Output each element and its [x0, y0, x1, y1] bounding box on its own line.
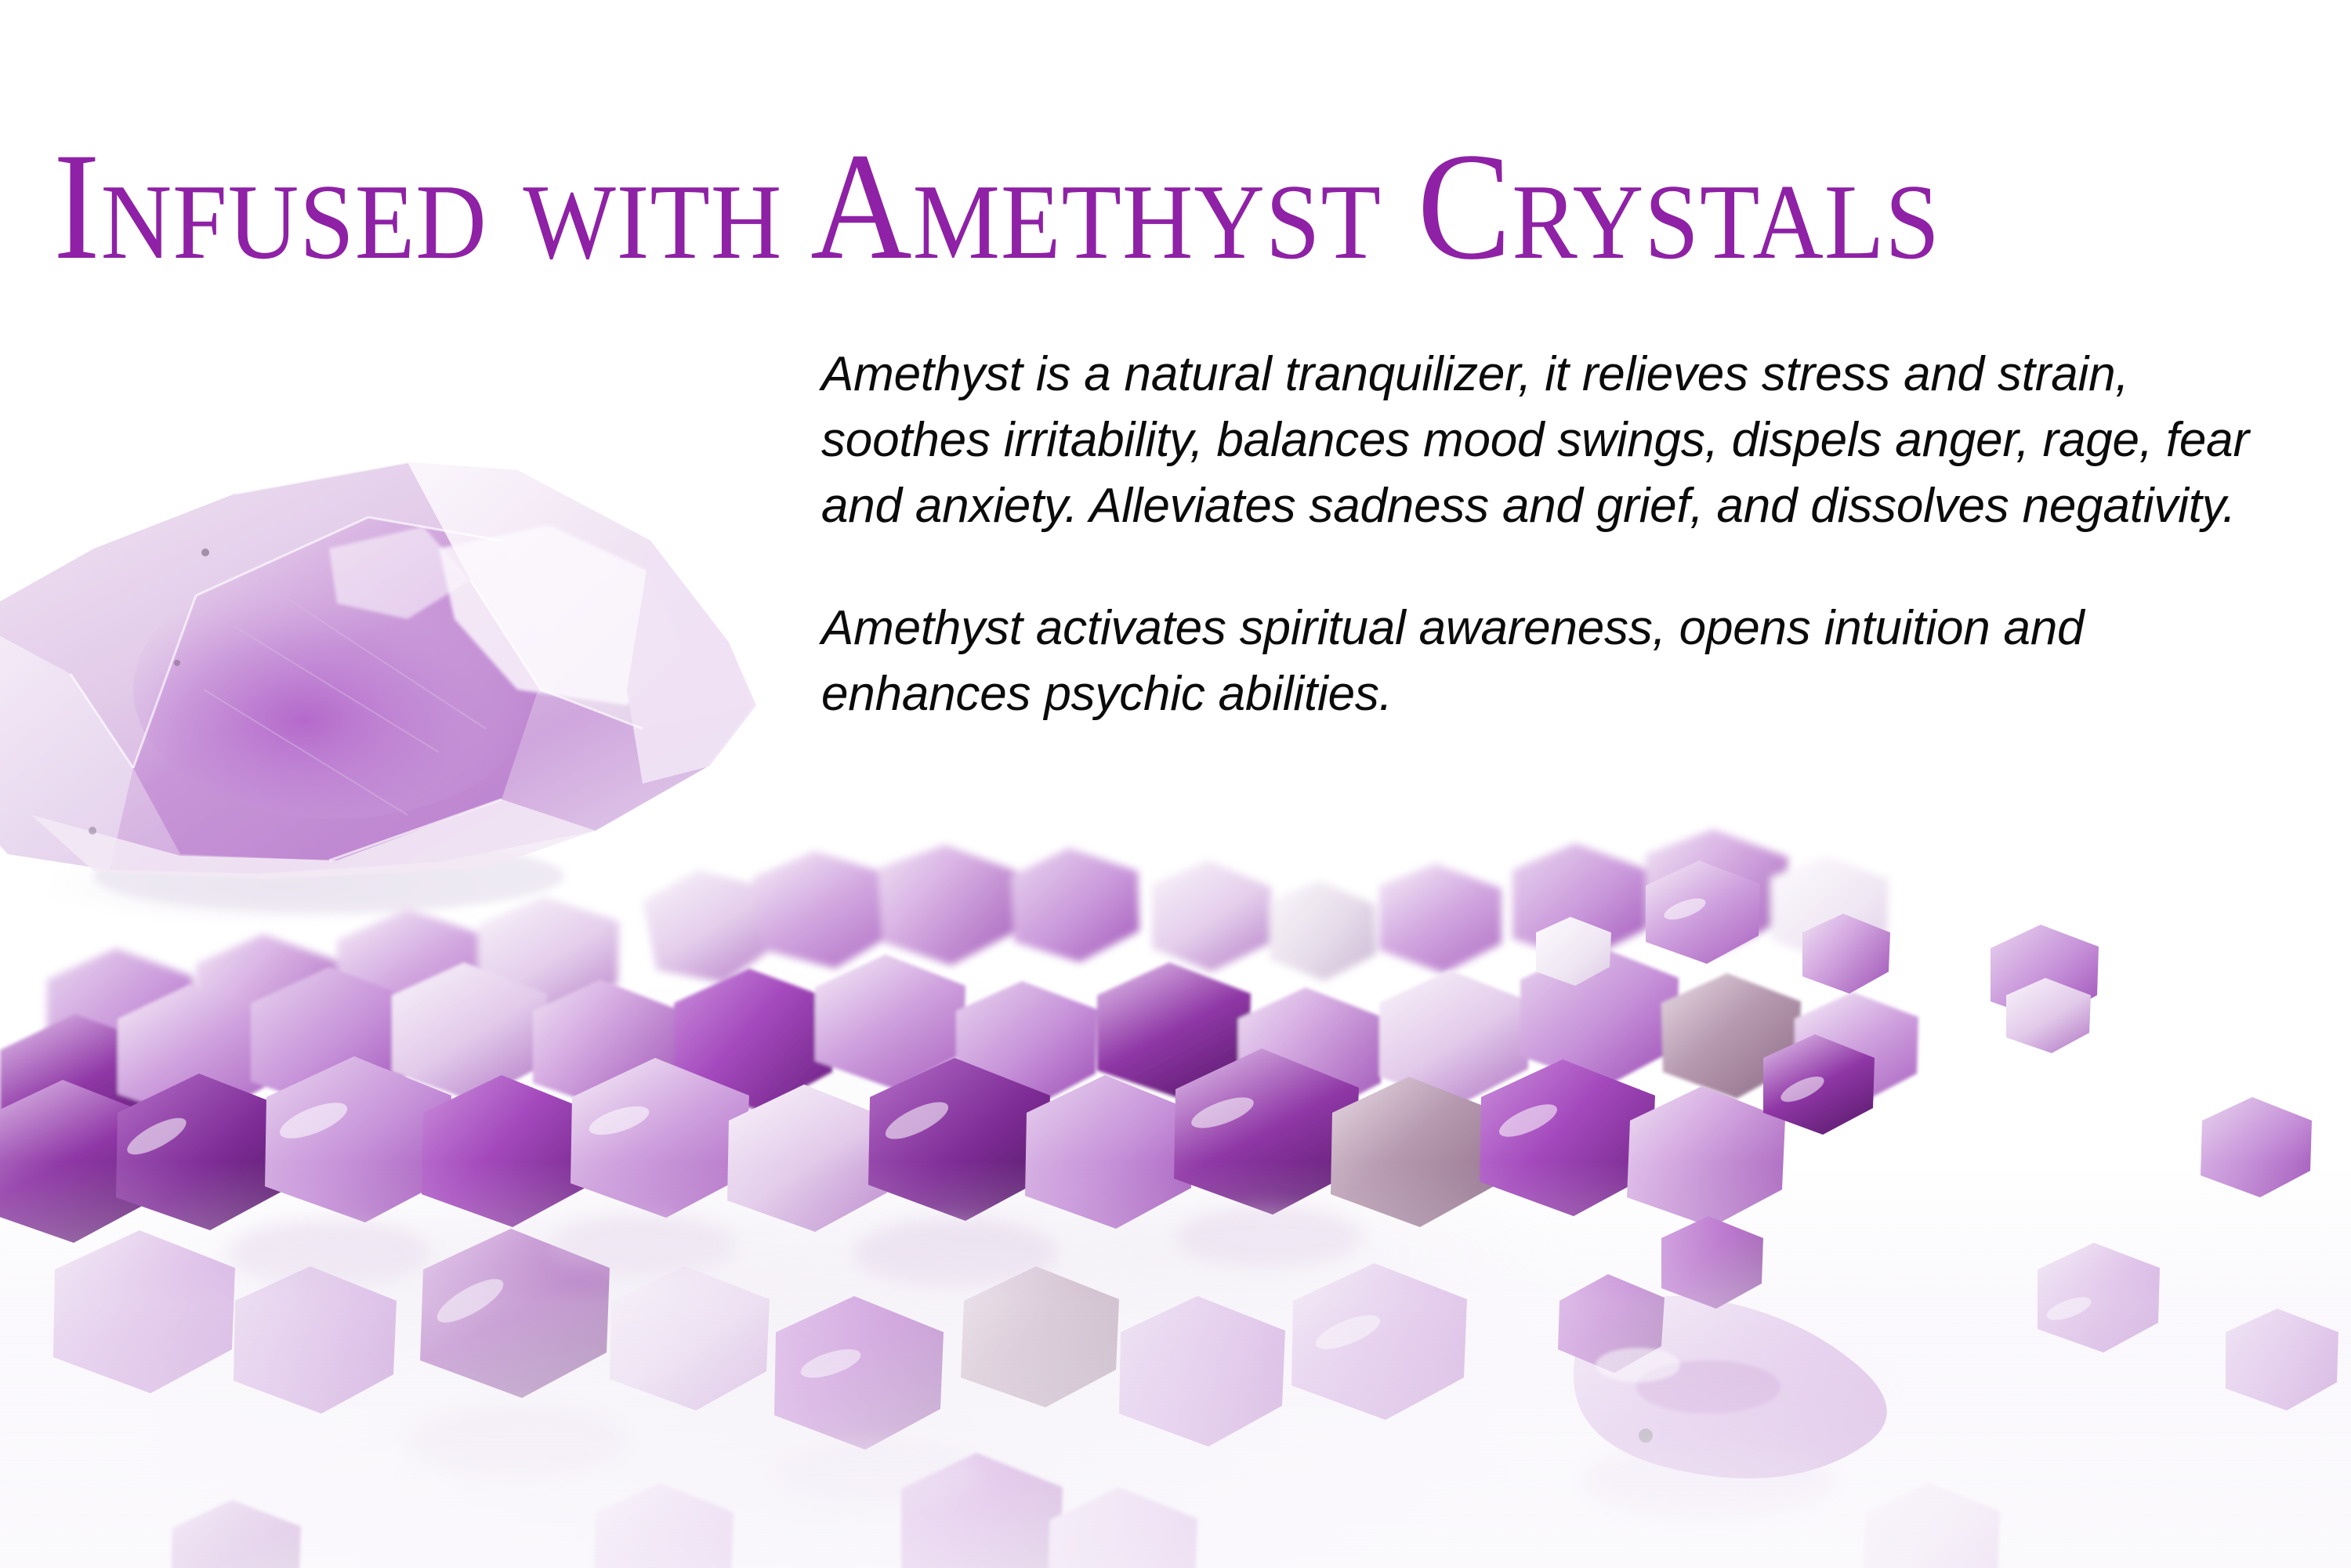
tumbled-stones-mid — [0, 945, 1918, 1157]
stone — [1991, 925, 2099, 1022]
stone — [171, 1500, 301, 1568]
page-title: Infused with Amethyst Crystals — [53, 139, 2032, 274]
large-crystal-point — [0, 462, 756, 912]
stone — [53, 1230, 235, 1393]
stone — [1536, 917, 1611, 986]
stone — [956, 981, 1097, 1108]
stone — [815, 954, 965, 1089]
stone — [1795, 992, 1918, 1103]
stone — [1646, 860, 1760, 964]
crystal-internal-lines — [204, 580, 486, 815]
stone — [868, 1058, 1050, 1221]
stone — [571, 1058, 749, 1218]
stone — [533, 980, 677, 1110]
crystal-facet-top-right — [408, 462, 752, 729]
stone-elongated — [1574, 1296, 1887, 1479]
stone — [1661, 973, 1801, 1099]
stone — [1174, 1048, 1359, 1215]
stone — [1661, 1216, 1763, 1309]
stone — [420, 1229, 610, 1398]
stone — [118, 984, 271, 1122]
crystal-highlight-2 — [329, 527, 470, 619]
stone-reflections — [227, 1207, 1834, 1519]
stone — [0, 1014, 160, 1157]
stone — [0, 1080, 158, 1243]
stone — [1379, 970, 1530, 1105]
stone — [610, 1266, 770, 1410]
stone — [1238, 987, 1382, 1117]
crystal-facet-core — [133, 517, 549, 860]
table-surface-sheen — [0, 1161, 2351, 1568]
stone — [901, 1453, 1063, 1568]
paragraph-1: Amethyst is a natural tranquilizer, it r… — [821, 342, 2279, 539]
crystal-facet-edges — [71, 462, 643, 860]
stone — [774, 1296, 944, 1450]
stone — [1864, 1483, 2000, 1568]
tumbled-stones-sparse — [1536, 860, 2338, 1410]
stone — [674, 969, 834, 1111]
stone — [1480, 1059, 1655, 1216]
stone — [265, 1056, 451, 1222]
stone — [1291, 1263, 1467, 1420]
crystal-lower-edge — [31, 799, 596, 879]
stone — [1097, 962, 1251, 1099]
crystal-color-zone — [133, 560, 541, 819]
stone-highlights — [122, 894, 2094, 1384]
stone — [251, 967, 415, 1113]
stone — [1520, 945, 1679, 1086]
stone — [1802, 914, 1890, 994]
crystal-highlight — [439, 525, 682, 705]
body-copy: Amethyst is a natural tranquilizer, it r… — [821, 342, 2279, 727]
stone — [422, 1075, 591, 1227]
stone — [1763, 1034, 1875, 1135]
crystal-body — [0, 462, 752, 874]
stone — [594, 1483, 734, 1568]
tumbled-stones-bottom-edge — [171, 1453, 2000, 1568]
stone — [234, 1266, 397, 1414]
slide-canvas: Infused with Amethyst Crystals Amethyst … — [0, 0, 2351, 1568]
stone — [1025, 1075, 1194, 1229]
stone — [1331, 1077, 1497, 1227]
stone — [2201, 1097, 2312, 1197]
crystal-tip-right — [627, 541, 756, 784]
stone — [1558, 1274, 1665, 1373]
stone — [961, 1266, 1119, 1407]
tumbled-stones-back — [47, 829, 1889, 1078]
stone — [1627, 1086, 1785, 1227]
stone — [2226, 1309, 2338, 1410]
stone — [727, 1085, 890, 1232]
stone — [116, 1074, 292, 1230]
crystal-facet-left — [0, 619, 133, 870]
tumbled-stones-front — [0, 1048, 1887, 1479]
table-shadows — [24, 840, 1959, 1434]
stone — [1119, 1296, 1285, 1447]
paragraph-2: Amethyst activates spiritual awareness, … — [821, 596, 2279, 727]
stone — [2038, 1243, 2160, 1353]
stone — [2006, 978, 2091, 1053]
stone — [392, 962, 547, 1102]
stone — [1049, 1487, 1197, 1568]
